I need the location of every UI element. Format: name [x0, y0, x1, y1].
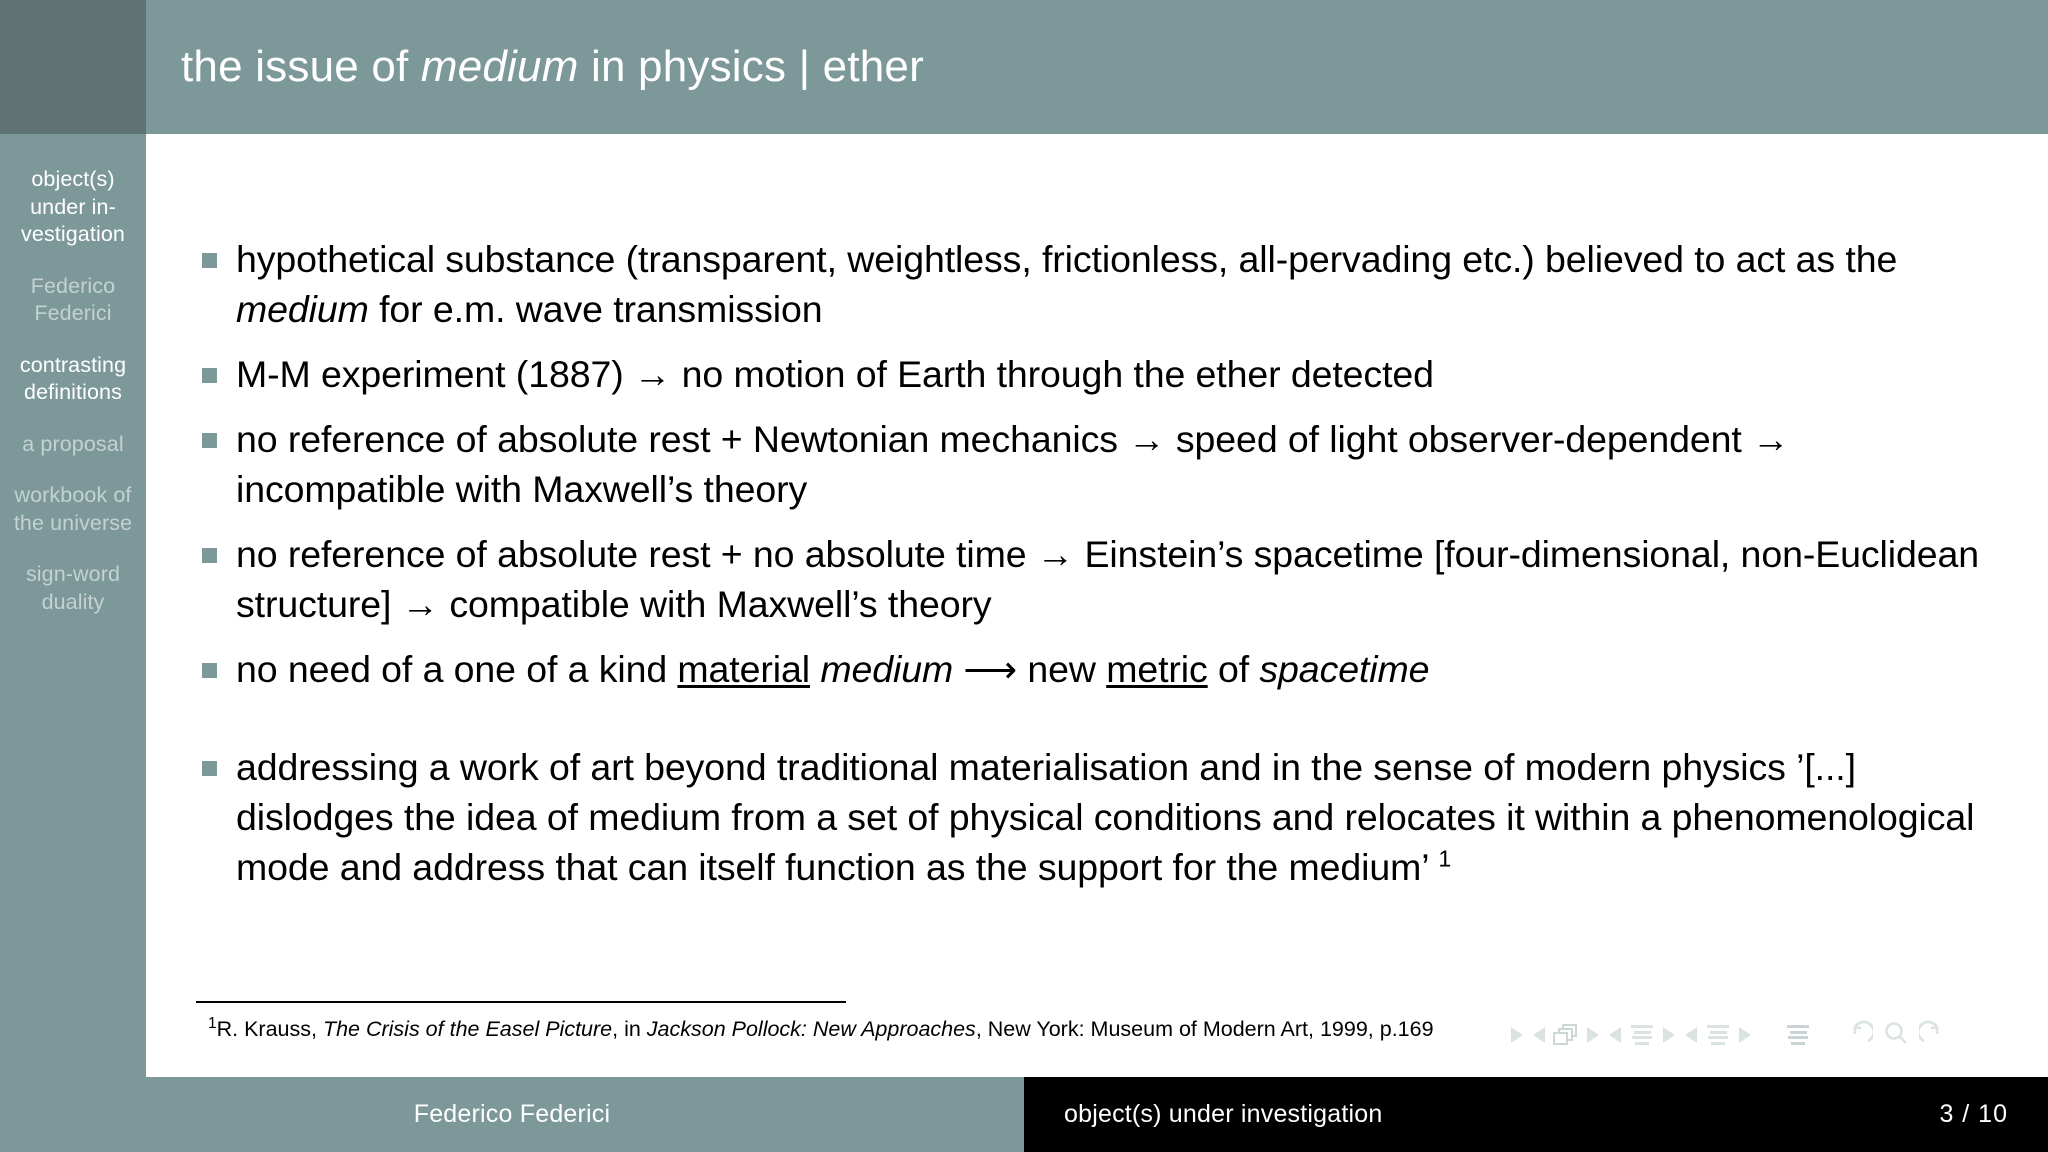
text-run: , in: [612, 1017, 647, 1041]
emphasis-term: The Crisis of the Easel Picture: [323, 1017, 612, 1041]
bullet-item: addressing a work of art beyond traditio…: [196, 742, 1986, 892]
frame-nav-group[interactable]: [1506, 1024, 1604, 1046]
text-run: no need of a one of a kind: [236, 648, 677, 690]
emphasis-term: spacetime: [1259, 648, 1429, 690]
page-title: the issue of medium in physics | ether: [181, 41, 924, 93]
footer-section-title: object(s) under investigation: [1024, 1077, 1724, 1152]
sidebar-item-2[interactable]: contrasting definitions: [0, 352, 146, 407]
slide-footer: Federico Federici object(s) under invest…: [0, 1077, 2048, 1152]
bullet-item: no reference of absolute rest + no absol…: [196, 529, 1986, 629]
section-nav-group[interactable]: [1680, 1025, 1756, 1045]
text-run: hypothetical substance (transparent, wei…: [236, 238, 1897, 280]
text-run: R. Krauss,: [217, 1017, 323, 1041]
slide: object(s) under in-vestigationFederico F…: [0, 0, 2048, 1152]
sidebar-item-0[interactable]: object(s) under in-vestigation: [0, 166, 146, 249]
subsection-icon[interactable]: [1629, 1025, 1655, 1045]
search-icon[interactable]: [1883, 1020, 1909, 1051]
next-section-icon[interactable]: [1739, 1027, 1751, 1043]
sidebar-item-5[interactable]: sign-word duality: [0, 561, 146, 616]
slide-title-bar: the issue of medium in physics | ether: [146, 0, 2048, 134]
prev-subsection-icon[interactable]: [1609, 1027, 1621, 1043]
title-suffix: in physics | ether: [579, 42, 924, 91]
presentation-icon[interactable]: [1785, 1025, 1811, 1045]
sidebar-item-3[interactable]: a proposal: [0, 431, 146, 459]
prev-frame-icon[interactable]: [1533, 1027, 1545, 1043]
first-frame-icon[interactable]: [1511, 1027, 1523, 1043]
text-run: for e.m. wave transmission: [369, 288, 823, 330]
text-run: addressing a work of art beyond traditio…: [236, 746, 1974, 888]
title-italic-term: medium: [421, 42, 579, 91]
emphasis-term: medium: [236, 288, 369, 330]
underlined-term: metric: [1106, 648, 1207, 690]
bullet-item: hypothetical substance (transparent, wei…: [196, 234, 1986, 334]
section-icon[interactable]: [1705, 1025, 1731, 1045]
underlined-term: material: [677, 648, 810, 690]
sidebar-header-block: [0, 0, 146, 134]
forward-icon[interactable]: [1919, 1020, 1947, 1051]
text-run: , New York: Museum of Modern Art, 1999, …: [976, 1017, 1434, 1041]
frames-icon[interactable]: [1553, 1024, 1579, 1046]
next-frame-icon[interactable]: [1587, 1027, 1599, 1043]
bullet-item: no reference of absolute rest + Newtonia…: [196, 414, 1986, 514]
footnote-citation: 1R. Krauss, The Crisis of the Easel Pict…: [208, 1015, 1434, 1043]
text-run: ⟶ new: [953, 648, 1106, 690]
text-run: [810, 648, 820, 690]
text-run: M-M experiment (1887) → no motion of Ear…: [236, 353, 1434, 395]
bullet-list: hypothetical substance (transparent, wei…: [196, 234, 1986, 907]
text-run: no reference of absolute rest + Newtonia…: [236, 418, 1789, 510]
back-icon[interactable]: [1845, 1020, 1873, 1051]
footnote-divider: [196, 1001, 846, 1003]
slide-body: hypothetical substance (transparent, wei…: [146, 134, 2048, 1077]
emphasis-term: Jackson Pollock: New Approaches: [647, 1017, 976, 1041]
bullet-item: no need of a one of a kind material medi…: [196, 644, 1986, 694]
footnote-marker: 1: [1438, 846, 1451, 872]
emphasis-term: medium: [820, 648, 953, 690]
text-run: no reference of absolute rest + no absol…: [236, 533, 1979, 625]
next-subsection-icon[interactable]: [1663, 1027, 1675, 1043]
prev-section-icon[interactable]: [1685, 1027, 1697, 1043]
sidebar-item-1[interactable]: Federico Federici: [0, 273, 146, 328]
title-prefix: the issue of: [181, 42, 421, 91]
footer-author: Federico Federici: [0, 1077, 1024, 1152]
footer-page-number: 3 / 10: [1939, 1077, 2008, 1152]
bullet-item: M-M experiment (1887) → no motion of Ear…: [196, 349, 1986, 399]
sidebar-item-4[interactable]: workbook of the universe: [0, 482, 146, 537]
beamer-navigation-symbols[interactable]: [1506, 1020, 1952, 1050]
subsection-nav-group[interactable]: [1604, 1025, 1680, 1045]
sidebar-navigation[interactable]: object(s) under in-vestigationFederico F…: [0, 134, 146, 1077]
text-run: of: [1208, 648, 1260, 690]
footnote-number: 1: [208, 1015, 217, 1032]
